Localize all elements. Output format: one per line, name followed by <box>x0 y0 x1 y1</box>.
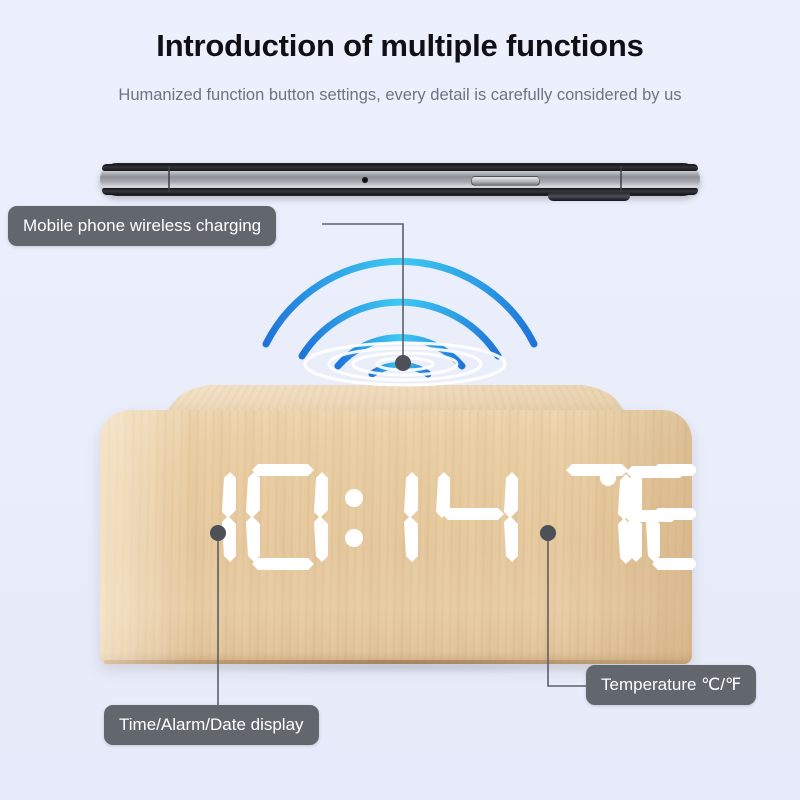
smartphone-side-view <box>100 158 700 204</box>
charging-pad-ripples <box>300 338 510 390</box>
callout-wireless-charging[interactable]: Mobile phone wireless charging <box>8 206 276 246</box>
callout-temperature[interactable]: Temperature ℃/℉ <box>586 665 756 705</box>
led-digit-minute-tens <box>404 472 418 562</box>
callout-time-display[interactable]: Time/Alarm/Date display <box>104 705 319 745</box>
page-title: Introduction of multiple functions <box>0 28 800 64</box>
led-colon <box>345 489 363 547</box>
led-temperature-unit <box>596 466 692 570</box>
phone-antenna-line-right <box>620 166 622 192</box>
phone-camera-bump <box>548 193 630 201</box>
phone-microphone-hole <box>362 177 368 183</box>
led-digit-hour-tens <box>222 472 236 562</box>
phone-top-rim <box>102 164 698 171</box>
led-digit-hour-ones <box>246 464 328 570</box>
led-digit-minute-ones <box>436 472 518 562</box>
page-subtitle: Humanized function button settings, ever… <box>0 86 800 105</box>
phone-volume-button <box>471 176 540 186</box>
phone-antenna-line-left <box>168 166 170 192</box>
infographic-canvas: Introduction of multiple functions Human… <box>0 0 800 800</box>
